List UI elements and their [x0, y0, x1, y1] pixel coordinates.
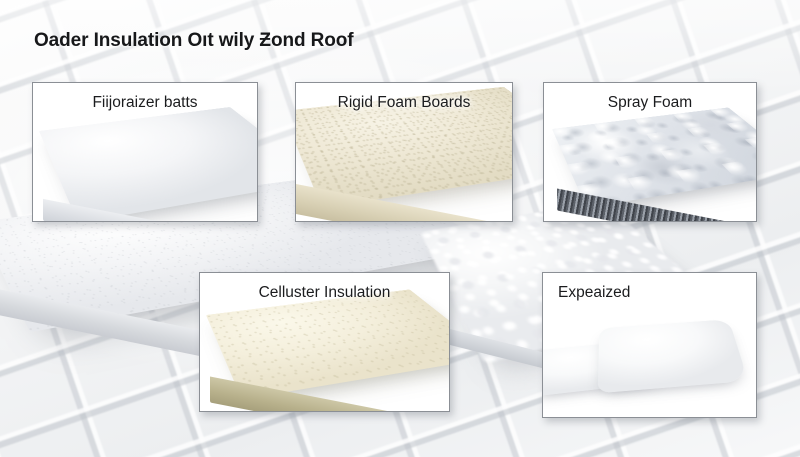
card-label-fiijoraizer-batts: Fiijoraizer batts: [33, 94, 257, 112]
card-label-rigid-foam-boards: Rigid Foam Boards: [296, 94, 512, 112]
illustration-cream-foam-board: [295, 111, 513, 222]
infographic-canvas: Oader Insulation Oıt wily Ƶond Roof Fiij…: [0, 0, 800, 457]
card-rigid-foam-boards[interactable]: Rigid Foam Boards: [295, 82, 513, 222]
illustration-white-batt-slab: [39, 131, 255, 222]
card-spray-foam[interactable]: Spray Foam: [543, 82, 757, 222]
card-expeaized[interactable]: Expeaized: [542, 272, 757, 418]
page-title: Oader Insulation Oıt wily Ƶond Roof: [34, 30, 354, 52]
foam-sheet-front: [598, 319, 749, 393]
card-label-expeaized: Expeaized: [558, 284, 630, 302]
card-label-celluster-insulation: Celluster Insulation: [200, 284, 449, 302]
illustration-ivory-cellulose-board: [206, 315, 444, 412]
illustration-spray-foam-panel: [552, 129, 757, 222]
card-fiijoraizer-batts[interactable]: Fiijoraizer batts: [32, 82, 258, 222]
card-label-spray-foam: Spray Foam: [544, 94, 756, 112]
card-celluster-insulation[interactable]: Celluster Insulation: [199, 272, 450, 412]
